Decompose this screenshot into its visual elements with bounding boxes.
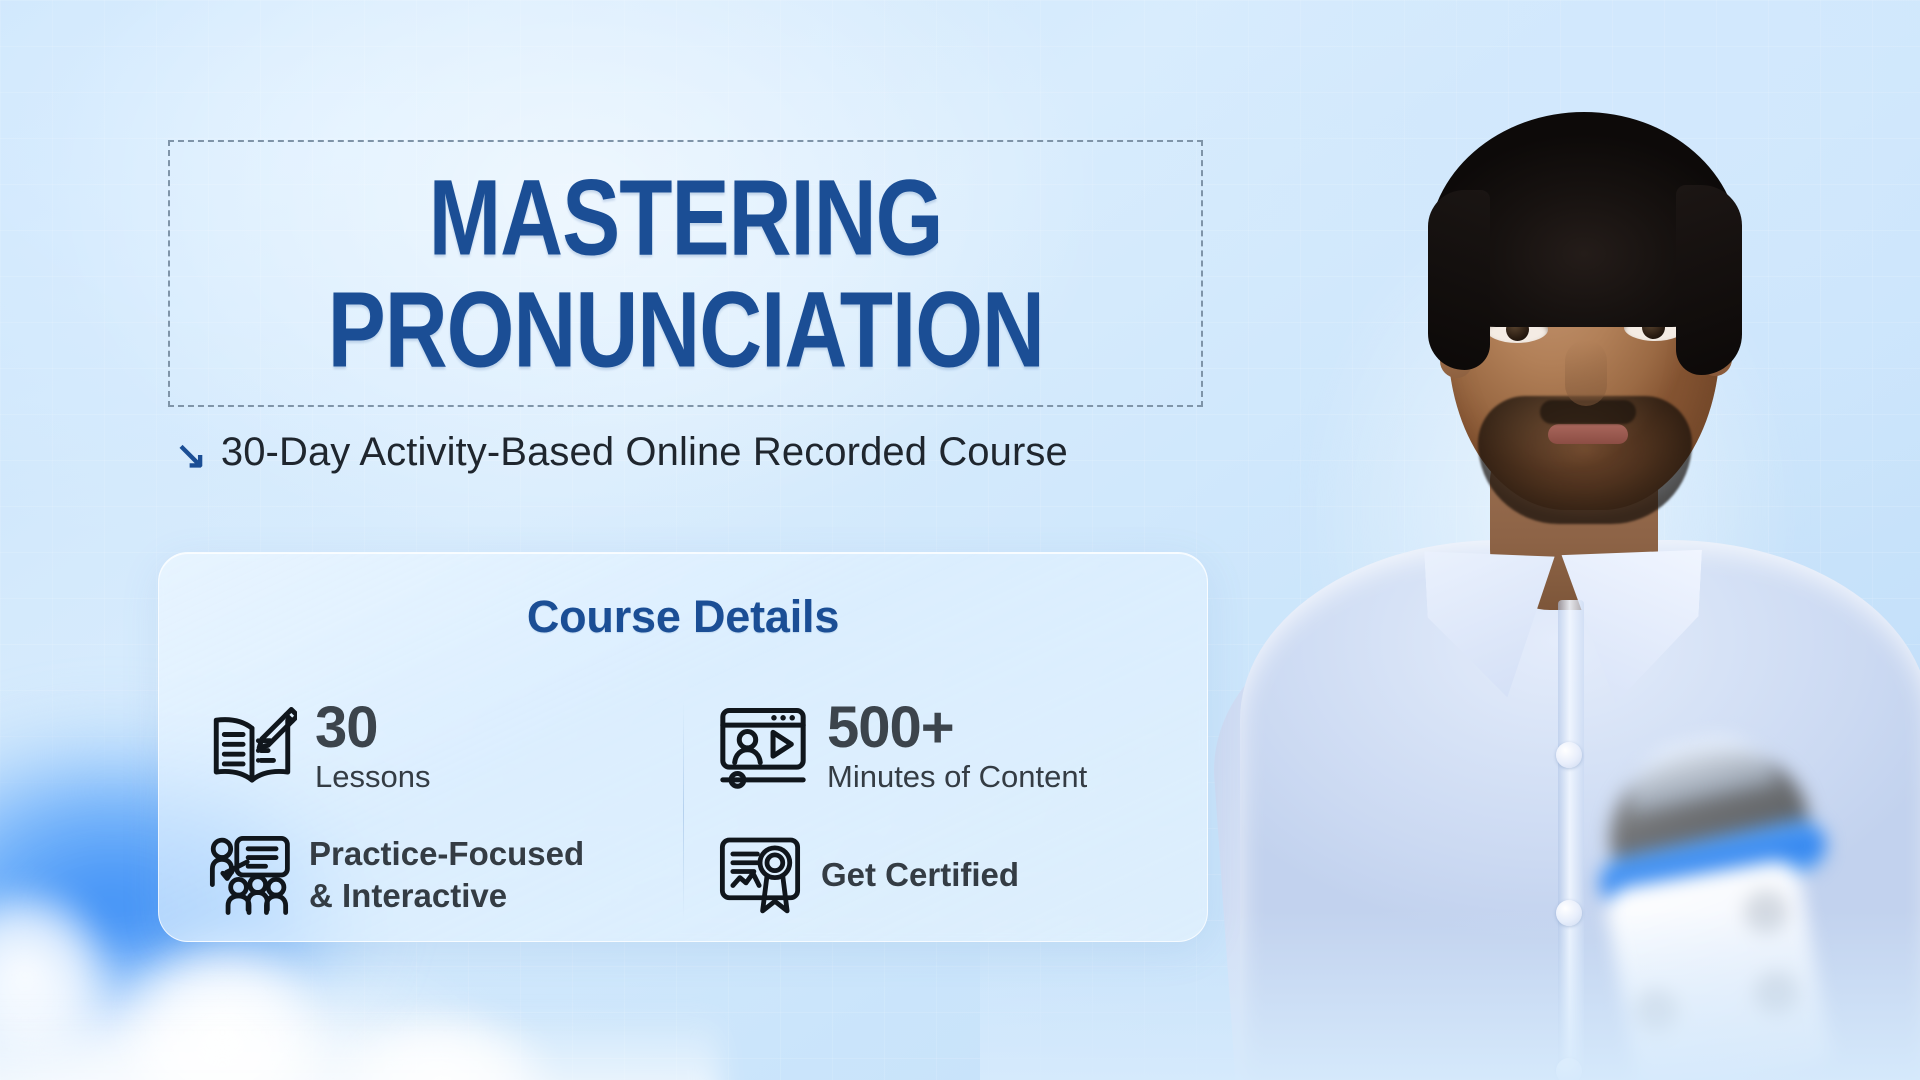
- stat-lessons: 30 Lessons: [159, 683, 683, 811]
- card-title: Course Details: [159, 591, 1207, 643]
- shirt-button: [1556, 742, 1582, 768]
- stat-lessons-label: Lessons: [315, 760, 430, 794]
- stat-minutes-label: Minutes of Content: [827, 760, 1087, 794]
- course-promo-banner: MASTERING PRONUNCIATION ↘ 30-Day Activit…: [0, 0, 1920, 1080]
- course-details-card: Course Details: [158, 552, 1208, 942]
- arrow-down-right-icon: ↘: [175, 437, 207, 475]
- certificate-ribbon-icon: [717, 833, 803, 917]
- page-title-line-1: MASTERING: [429, 166, 943, 270]
- classroom-presentation-icon: [207, 834, 291, 916]
- stat-practice: Practice-Focused & Interactive: [159, 811, 683, 939]
- nose: [1565, 340, 1607, 406]
- banner-content: MASTERING PRONUNCIATION ↘ 30-Day Activit…: [0, 0, 1260, 1080]
- stat-practice-line-2: & Interactive: [309, 875, 584, 917]
- stat-practice-text: Practice-Focused & Interactive: [309, 833, 584, 917]
- stat-minutes-value: 500+: [827, 700, 1087, 756]
- stat-lessons-value: 30: [315, 700, 430, 756]
- subtitle: ↘ 30-Day Activity-Based Online Recorded …: [175, 430, 1068, 475]
- course-stats-grid: 30 Lessons: [159, 683, 1207, 939]
- hair-side-left: [1428, 190, 1490, 370]
- video-lesson-icon: [717, 705, 809, 789]
- title-dashed-frame: MASTERING PRONUNCIATION: [168, 140, 1203, 407]
- grid-divider-horizontal: [199, 941, 1167, 942]
- open-book-pencil-icon: [207, 705, 297, 789]
- stat-certified-label: Get Certified: [821, 854, 1019, 896]
- stat-minutes-text: 500+ Minutes of Content: [827, 700, 1087, 794]
- grid-divider-vertical: [683, 701, 684, 921]
- stat-minutes: 500+ Minutes of Content: [683, 683, 1207, 811]
- hair-side-right: [1676, 185, 1742, 375]
- mouth: [1548, 424, 1628, 444]
- stat-lessons-text: 30 Lessons: [315, 700, 430, 794]
- stat-certified: Get Certified: [683, 811, 1207, 939]
- stat-certified-text: Get Certified: [821, 854, 1019, 896]
- subtitle-text: 30-Day Activity-Based Online Recorded Co…: [221, 430, 1068, 475]
- stat-practice-line-1: Practice-Focused: [309, 833, 584, 875]
- page-title-line-2: PRONUNCIATION: [327, 277, 1043, 381]
